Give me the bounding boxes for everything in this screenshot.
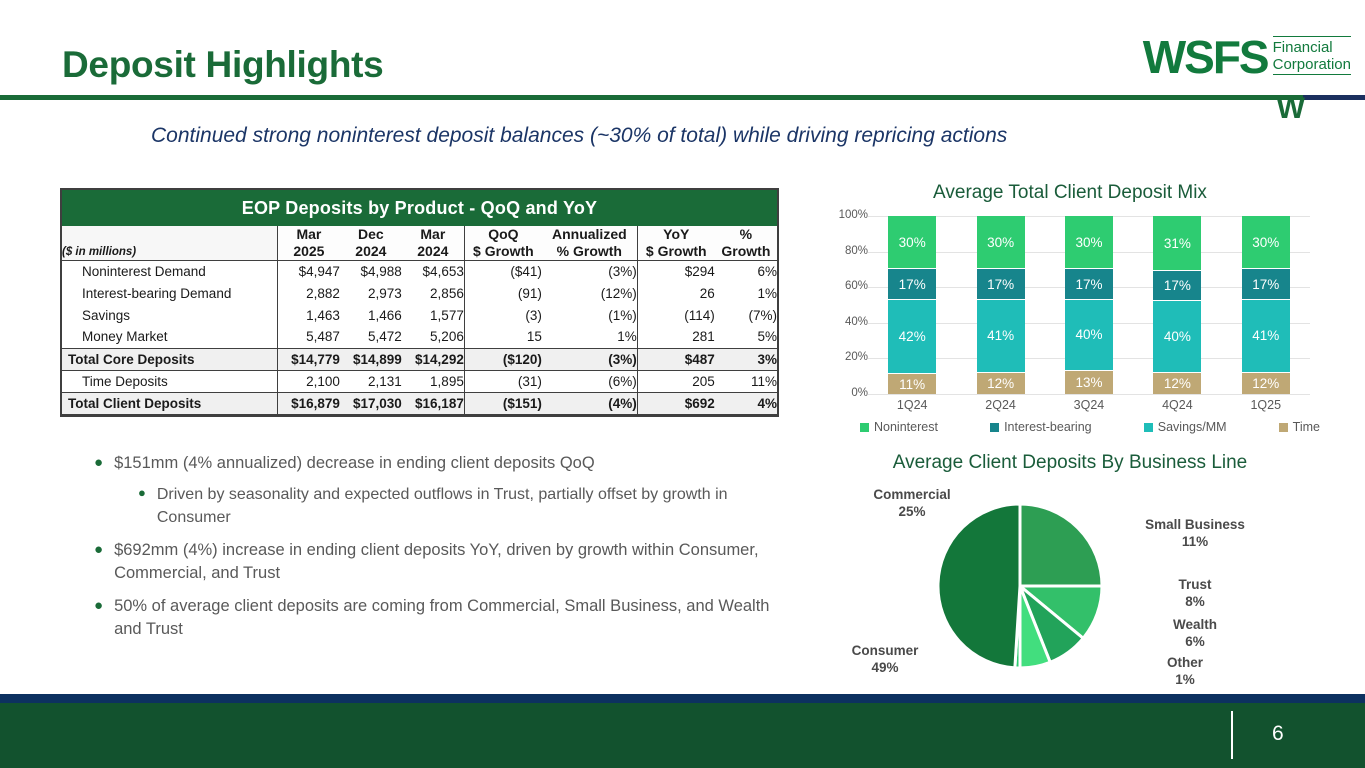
page-subtitle: Continued strong noninterest deposit bal… xyxy=(151,124,1007,148)
bar-chart-legend: NoninterestInterest-bearingSavings/MMTim… xyxy=(860,420,1320,434)
bullet-item: ●50% of average client deposits are comi… xyxy=(86,595,776,642)
table-cell: 5,472 xyxy=(340,326,402,348)
x-axis-label: 2Q24 xyxy=(977,398,1025,412)
pie-slice-label: Wealth6% xyxy=(1140,616,1250,651)
legend-label: Interest-bearing xyxy=(1004,420,1092,434)
bar-column: 31%17%40%12% xyxy=(1153,216,1201,394)
bar-x-axis-labels: 1Q242Q243Q244Q241Q25 xyxy=(868,398,1310,412)
bullet-text: 50% of average client deposits are comin… xyxy=(114,595,776,642)
table-row: Time Deposits2,1002,1311,895(31)(6%)2051… xyxy=(62,370,777,392)
bar-segment: 12% xyxy=(1153,373,1201,394)
y-axis-label: 40% xyxy=(808,316,868,328)
row-label: Savings xyxy=(62,304,277,326)
table-cell: 4% xyxy=(715,392,777,414)
bar-segment: 30% xyxy=(1065,216,1113,269)
legend-item[interactable]: Noninterest xyxy=(860,420,938,434)
legend-label: Time xyxy=(1293,420,1320,434)
bar-column: 30%17%40%13% xyxy=(1065,216,1113,394)
table-cell: 5,487 xyxy=(277,326,340,348)
table-title: EOP Deposits by Product - QoQ and YoY xyxy=(62,190,777,226)
table-cell: $14,779 xyxy=(277,348,340,370)
y-axis-label: 100% xyxy=(808,209,868,221)
pie-slice-label: Other1% xyxy=(1130,654,1240,689)
legend-item[interactable]: Savings/MM xyxy=(1144,420,1227,434)
page-number: 6 xyxy=(1272,722,1284,746)
bar-segment: 40% xyxy=(1153,301,1201,372)
gridline xyxy=(868,394,1310,395)
row-label: Total Client Deposits xyxy=(62,392,277,414)
bullet-marker-icon: ● xyxy=(94,452,103,475)
x-axis-label: 1Q24 xyxy=(888,398,936,412)
x-axis-label: 3Q24 xyxy=(1065,398,1113,412)
business-line-pie-chart: Average Client Deposits By Business Line… xyxy=(800,452,1340,692)
pie-slice-label: Trust8% xyxy=(1140,576,1250,611)
table-cell: (3) xyxy=(464,304,542,326)
table-cell: 5,206 xyxy=(402,326,465,348)
footer-green-band xyxy=(0,703,1365,768)
column-header: Mar2024 xyxy=(402,226,465,260)
y-axis-label: 80% xyxy=(808,245,868,257)
wsfs-w-mark-icon: W xyxy=(1277,98,1303,119)
footer-divider xyxy=(1231,711,1233,759)
legend-swatch-icon xyxy=(1144,423,1153,432)
bar-plot-area: 30%17%42%11%30%17%41%12%30%17%40%13%31%1… xyxy=(868,216,1310,394)
eop-deposits-table-container: EOP Deposits by Product - QoQ and YoY($ … xyxy=(60,188,779,417)
table-cell: (4%) xyxy=(542,392,637,414)
bar-segment: 41% xyxy=(977,300,1025,373)
table-cell: 205 xyxy=(637,370,715,392)
table-cell: 2,856 xyxy=(402,282,465,304)
bar-segment: 30% xyxy=(888,216,936,269)
column-header: %Growth xyxy=(715,226,777,260)
table-cell: 26 xyxy=(637,282,715,304)
bar-segment: 41% xyxy=(1242,300,1290,373)
table-cell: $17,030 xyxy=(340,392,402,414)
bullet-marker-icon: ● xyxy=(138,484,146,529)
deposit-mix-bar-chart: Average Total Client Deposit Mix 100%80%… xyxy=(800,180,1340,445)
wsfs-logo-financial: Financial xyxy=(1273,40,1351,57)
table-cell: 281 xyxy=(637,326,715,348)
page-title: Deposit Highlights xyxy=(62,44,383,86)
bar-segment: 30% xyxy=(1242,216,1290,269)
column-header: Annualized% Growth xyxy=(542,226,637,260)
bullet-text: $692mm (4%) increase in ending client de… xyxy=(114,539,776,586)
table-row: Noninterest Demand$4,947$4,988$4,653($41… xyxy=(62,260,777,282)
bar-segment: 17% xyxy=(1242,269,1290,299)
bullet-text: Driven by seasonality and expected outfl… xyxy=(157,484,776,529)
table-cell: ($41) xyxy=(464,260,542,282)
table-cell: (7%) xyxy=(715,304,777,326)
bullet-item: ●$692mm (4%) increase in ending client d… xyxy=(86,539,776,586)
table-cell: (12%) xyxy=(542,282,637,304)
table-cell: ($151) xyxy=(464,392,542,414)
table-cell: $14,292 xyxy=(402,348,465,370)
legend-swatch-icon xyxy=(990,423,999,432)
table-cell: $16,879 xyxy=(277,392,340,414)
highlights-bullet-list: ●$151mm (4% annualized) decrease in endi… xyxy=(86,452,776,651)
wsfs-logo: WSFS Financial Corporation xyxy=(1143,36,1351,80)
table-cell: 1% xyxy=(715,282,777,304)
bullet-marker-icon: ● xyxy=(94,595,103,642)
column-header: Mar2025 xyxy=(277,226,340,260)
bar-segment: 17% xyxy=(888,269,936,299)
table-cell: 2,131 xyxy=(340,370,402,392)
legend-label: Noninterest xyxy=(874,420,938,434)
table-cell: 1% xyxy=(542,326,637,348)
table-cell: (6%) xyxy=(542,370,637,392)
table-cell: $4,988 xyxy=(340,260,402,282)
bar-segment: 17% xyxy=(1065,269,1113,299)
table-cell: 3% xyxy=(715,348,777,370)
wsfs-logo-corporation: Corporation xyxy=(1273,57,1351,74)
table-row: Interest-bearing Demand2,8822,9732,856(9… xyxy=(62,282,777,304)
row-label: Total Core Deposits xyxy=(62,348,277,370)
legend-item[interactable]: Interest-bearing xyxy=(990,420,1092,434)
bar-segment: 12% xyxy=(977,373,1025,394)
y-axis-label: 60% xyxy=(808,280,868,292)
pie-slice-label: Commercial25% xyxy=(842,486,982,521)
bar-segment: 40% xyxy=(1065,300,1113,371)
bullet-text: $151mm (4% annualized) decrease in endin… xyxy=(114,452,595,475)
table-cell: 2,100 xyxy=(277,370,340,392)
y-axis-label: 0% xyxy=(808,387,868,399)
legend-label: Savings/MM xyxy=(1158,420,1227,434)
x-axis-label: 4Q24 xyxy=(1153,398,1201,412)
table-cell: 5% xyxy=(715,326,777,348)
table-cell: 1,463 xyxy=(277,304,340,326)
row-label: Interest-bearing Demand xyxy=(62,282,277,304)
bar-column: 30%17%42%11% xyxy=(888,216,936,394)
column-header: YoY$ Growth xyxy=(637,226,715,260)
bar-segment: 31% xyxy=(1153,216,1201,271)
table-cell: 1,577 xyxy=(402,304,465,326)
pie-slice-label: Small Business11% xyxy=(1120,516,1270,551)
bullet-item: ●Driven by seasonality and expected outf… xyxy=(86,484,776,529)
x-axis-label: 1Q25 xyxy=(1242,398,1290,412)
pie-slice-label: Consumer49% xyxy=(810,642,960,677)
legend-item[interactable]: Time xyxy=(1279,420,1320,434)
table-cell: (3%) xyxy=(542,348,637,370)
table-header-row: ($ in millions)Mar2025Dec2024Mar2024QoQ$… xyxy=(62,226,777,260)
slide: Deposit Highlights W WSFS Financial Corp… xyxy=(0,0,1365,768)
y-axis-label: 20% xyxy=(808,351,868,363)
table-row: Total Client Deposits$16,879$17,030$16,1… xyxy=(62,392,777,414)
wsfs-logo-subtext: Financial Corporation xyxy=(1273,36,1351,75)
bar-segment: 42% xyxy=(888,300,936,375)
table-cell: 15 xyxy=(464,326,542,348)
legend-swatch-icon xyxy=(860,423,869,432)
row-label: Noninterest Demand xyxy=(62,260,277,282)
bar-segment: 17% xyxy=(977,269,1025,299)
eop-deposits-table: EOP Deposits by Product - QoQ and YoY($ … xyxy=(62,190,777,415)
row-label: Money Market xyxy=(62,326,277,348)
footer-navy-bar xyxy=(0,694,1365,703)
table-row: Total Core Deposits$14,779$14,899$14,292… xyxy=(62,348,777,370)
column-header: QoQ$ Growth xyxy=(464,226,542,260)
table-cell: 2,882 xyxy=(277,282,340,304)
bar-segment: 13% xyxy=(1065,371,1113,394)
table-cell: 1,895 xyxy=(402,370,465,392)
bullet-item: ●$151mm (4% annualized) decrease in endi… xyxy=(86,452,776,475)
table-cell: $4,947 xyxy=(277,260,340,282)
bar-segment: 17% xyxy=(1153,271,1201,301)
bar-segment: 11% xyxy=(888,374,936,394)
table-cell: $14,899 xyxy=(340,348,402,370)
table-cell: 11% xyxy=(715,370,777,392)
bar-column: 30%17%41%12% xyxy=(1242,216,1290,394)
wsfs-wordmark: WSFS xyxy=(1143,36,1268,80)
bar-segment: 12% xyxy=(1242,373,1290,394)
table-cell: 6% xyxy=(715,260,777,282)
table-cell: $692 xyxy=(637,392,715,414)
bullet-marker-icon: ● xyxy=(94,539,103,586)
row-label: Time Deposits xyxy=(62,370,277,392)
table-row: Money Market5,4875,4725,206151%2815% xyxy=(62,326,777,348)
table-title-row: EOP Deposits by Product - QoQ and YoY xyxy=(62,190,777,226)
column-header: Dec2024 xyxy=(340,226,402,260)
table-row: Savings1,4631,4661,577(3)(1%)(114)(7%) xyxy=(62,304,777,326)
bar-column: 30%17%41%12% xyxy=(977,216,1025,394)
table-cell: 2,973 xyxy=(340,282,402,304)
table-cell: (1%) xyxy=(542,304,637,326)
table-cell: (3%) xyxy=(542,260,637,282)
table-cell: (114) xyxy=(637,304,715,326)
pie-chart-title: Average Client Deposits By Business Line xyxy=(800,452,1340,474)
table-units-note: ($ in millions) xyxy=(62,226,277,260)
title-divider-navy-cap xyxy=(1303,95,1365,100)
table-cell: $4,653 xyxy=(402,260,465,282)
title-divider xyxy=(0,95,1365,100)
table-cell: (91) xyxy=(464,282,542,304)
table-cell: 1,466 xyxy=(340,304,402,326)
table-cell: ($120) xyxy=(464,348,542,370)
legend-swatch-icon xyxy=(1279,423,1288,432)
bar-segment: 30% xyxy=(977,216,1025,269)
pie-slice[interactable] xyxy=(1020,504,1102,586)
table-cell: $16,187 xyxy=(402,392,465,414)
bar-chart-title: Average Total Client Deposit Mix xyxy=(800,180,1340,204)
table-cell: $487 xyxy=(637,348,715,370)
table-cell: $294 xyxy=(637,260,715,282)
table-cell: (31) xyxy=(464,370,542,392)
